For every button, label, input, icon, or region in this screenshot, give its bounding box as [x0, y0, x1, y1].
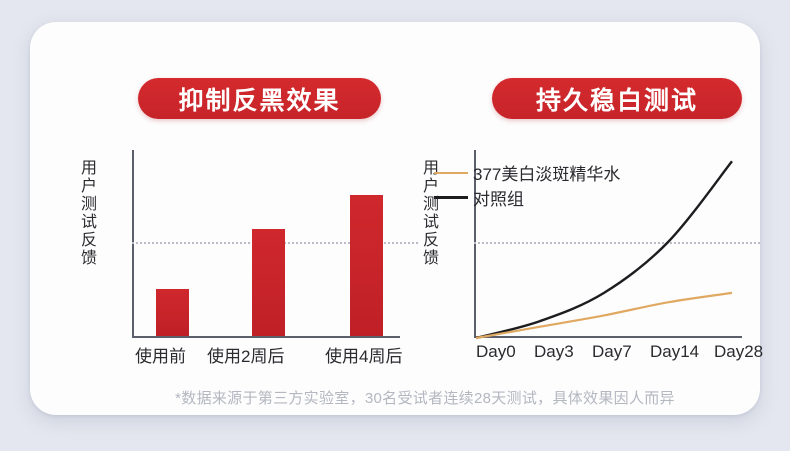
bar-使用2周后 [252, 229, 285, 336]
y-axis-caption-char: 试 [418, 214, 444, 232]
x-axis-tick-label: Day3 [534, 342, 574, 362]
legend-item-control: 对照组 [434, 185, 620, 210]
y-axis-caption-char: 户 [76, 178, 102, 196]
y-axis-caption-char: 馈 [76, 250, 102, 268]
legend-label: 377美白淡斑精华水 [473, 160, 620, 185]
y-axis-caption-char: 反 [418, 232, 444, 250]
x-axis-tick-label: 使用前 [135, 342, 186, 367]
y-axis-caption-char: 用 [76, 160, 102, 178]
bar-chart-panel: 用 户 测 试 反 馈 使用前 使用2周后 使用4周后 [76, 142, 406, 367]
bar-使用前 [156, 289, 189, 336]
x-axis-tick-label: Day28 [714, 342, 763, 362]
y-axis-caption-char: 试 [76, 214, 102, 232]
x-axis-tick-label: 使用2周后 [207, 342, 284, 367]
legend-swatch-icon-orange [434, 172, 468, 174]
bar-使用4周后 [350, 195, 383, 336]
y-axis-caption-char: 反 [76, 232, 102, 250]
section-title-badge-right: 持久稳白测试 [492, 78, 742, 119]
y-axis-caption-left: 用 户 测 试 反 馈 [76, 160, 102, 267]
y-axis-caption-char: 馈 [418, 250, 444, 268]
legend-item-product: 377美白淡斑精华水 [434, 160, 620, 185]
series-line-product [476, 293, 732, 338]
section-title-badge-left: 抑制反黑效果 [138, 78, 381, 119]
legend-label: 对照组 [473, 185, 524, 210]
x-axis-tick-label: 使用4周后 [325, 342, 402, 367]
content-card: 抑制反黑效果 持久稳白测试 用 户 测 试 反 馈 使用前 使用2周后 使用4周… [30, 22, 760, 415]
x-axis-tick-label: Day14 [650, 342, 699, 362]
line-chart-panel: 用 户 测 试 反 馈 377美白淡斑精华水 对照组 [418, 142, 748, 367]
y-axis-caption-char: 测 [76, 196, 102, 214]
legend-swatch-icon-black [434, 196, 468, 199]
chart-legend: 377美白淡斑精华水 对照组 [434, 160, 620, 210]
bar-chart-plot-area [132, 150, 400, 338]
x-axis-tick-label: Day7 [592, 342, 632, 362]
footnote-disclaimer: *数据来源于第三方实验室，30名受试者连续28天测试，具体效果因人而异 [30, 387, 790, 408]
x-axis-tick-label: Day0 [476, 342, 516, 362]
